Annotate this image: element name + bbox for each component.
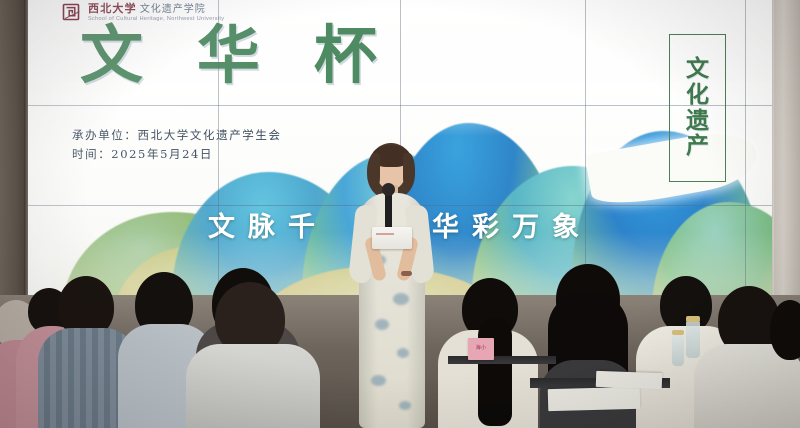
logo-school-name: 文化遗产学院 bbox=[140, 4, 206, 15]
desk-paper bbox=[596, 371, 663, 389]
slide-info-block: 承办单位：西北大学文化遗产学生会 时间：2025年5月24日 bbox=[72, 126, 282, 164]
vbox-char-4: 产 bbox=[686, 134, 709, 159]
water-bottle bbox=[672, 334, 684, 366]
desk-paper bbox=[548, 387, 641, 411]
audience-ponytail bbox=[478, 318, 512, 426]
photo-scene: 西北大学文化遗产学院 School of Cultural Heritage, … bbox=[0, 0, 800, 428]
audience-body bbox=[186, 344, 320, 428]
info-line-organizer: 承办单位：西北大学文化遗产学生会 bbox=[72, 126, 282, 145]
vertical-seal-box: 文 化 遗 产 bbox=[669, 34, 726, 182]
info-line-date: 时间：2025年5月24日 bbox=[72, 145, 282, 164]
logo-chinese-name: 西北大学文化遗产学院 bbox=[88, 4, 224, 15]
bottle-cap bbox=[686, 316, 700, 322]
vbox-char-2: 化 bbox=[686, 83, 709, 108]
cue-cards bbox=[372, 227, 412, 249]
desk bbox=[448, 356, 556, 364]
vbox-char-3: 遗 bbox=[686, 109, 709, 134]
name-card: 海小 bbox=[468, 338, 494, 360]
audience-head bbox=[770, 300, 800, 360]
water-bottle bbox=[686, 320, 700, 358]
name-card-text: 海小 bbox=[476, 346, 487, 352]
bottle-cap bbox=[672, 330, 684, 335]
seal-square-spiral-icon bbox=[62, 3, 82, 23]
presenter-figure bbox=[345, 143, 437, 428]
slide-title: 文 华 杯 bbox=[80, 24, 393, 87]
vbox-char-1: 文 bbox=[686, 57, 709, 82]
logo-university-name: 西北大学 bbox=[88, 3, 137, 15]
